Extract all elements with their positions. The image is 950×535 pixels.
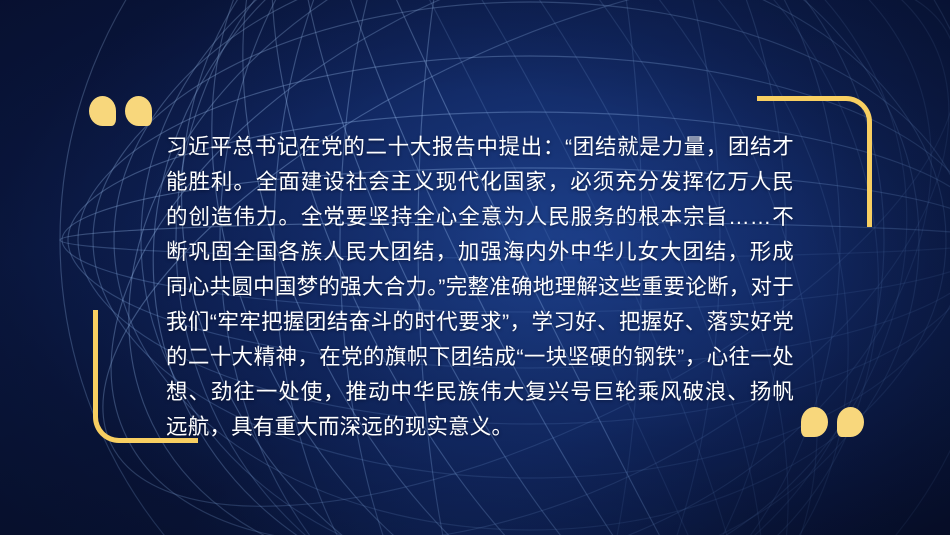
quote-paragraph: 习近平总书记在党的二十大报告中提出：“团结就是力量，团结才能胜利。全面建设社会主…	[166, 130, 794, 445]
quote-open-icon	[89, 96, 152, 126]
quote-slide: 习近平总书记在党的二十大报告中提出：“团结就是力量，团结才能胜利。全面建设社会主…	[0, 0, 950, 535]
quote-open-dot-2	[125, 96, 152, 126]
quote-close-dot-1	[801, 407, 828, 437]
quote-open-dot-1	[89, 96, 116, 126]
quote-close-icon	[801, 407, 864, 437]
quote-close-dot-2	[837, 407, 864, 437]
